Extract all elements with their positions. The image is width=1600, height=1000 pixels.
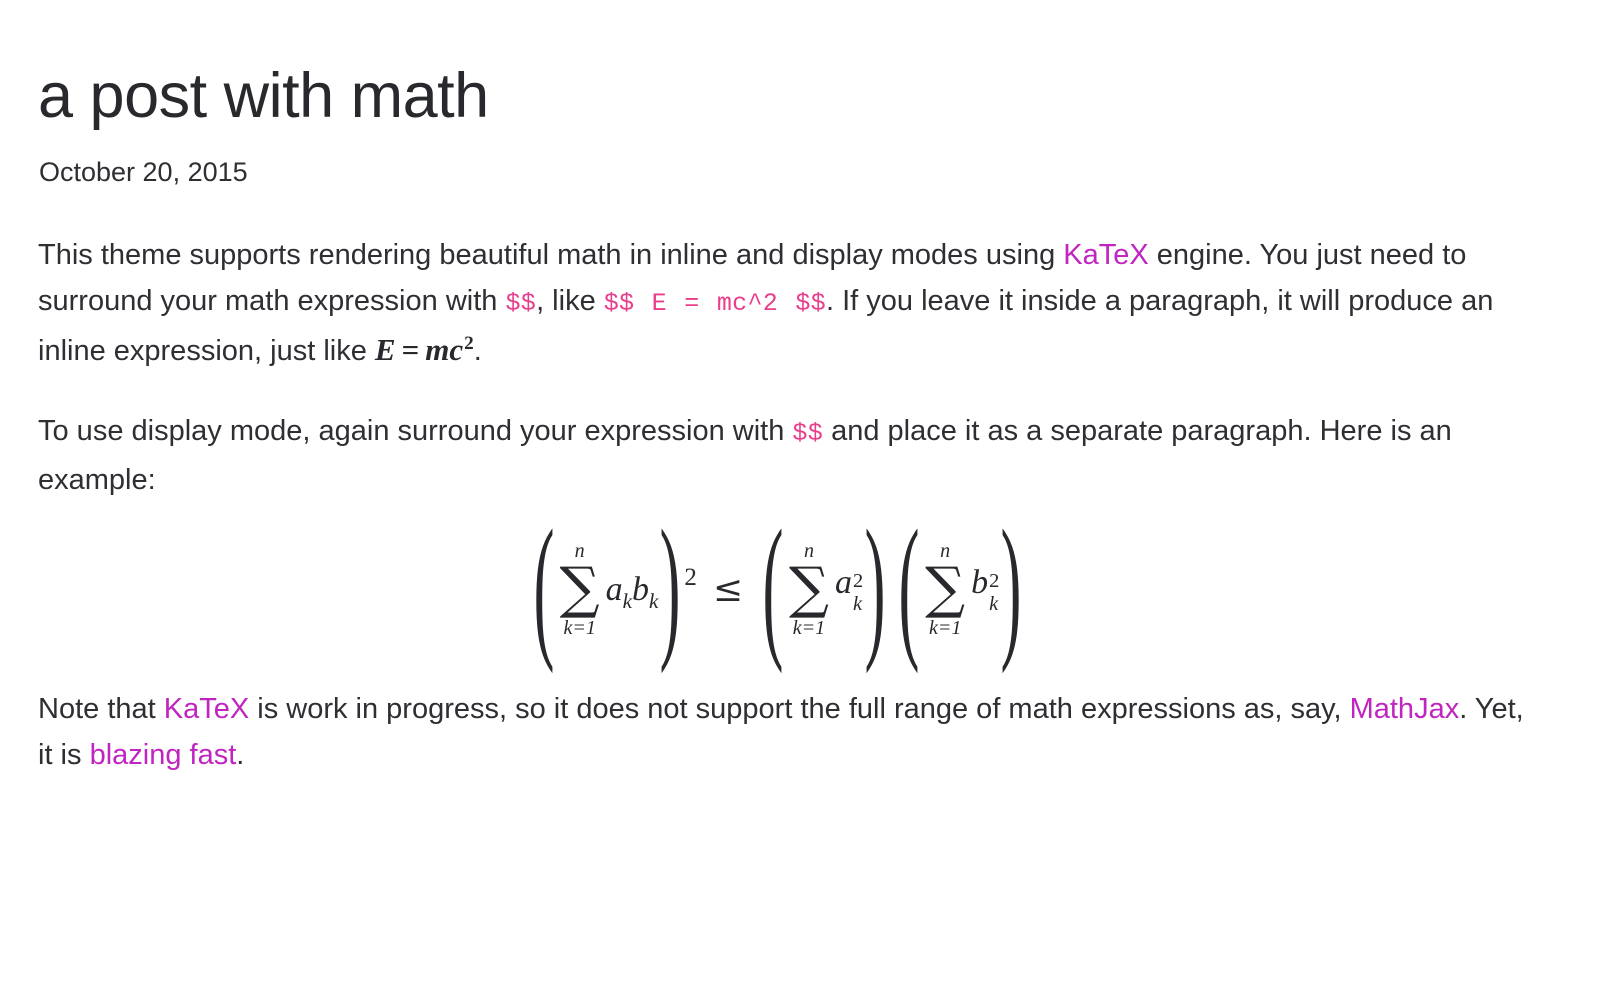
page-title: a post with math [38,62,1540,130]
left-paren-3: ( [898,526,921,654]
right-paren-1: ) [659,526,682,654]
summation-2: n ∑ k=1 [789,541,829,637]
term-bk-squared: b2k [967,560,999,619]
katex-link-2[interactable]: KaTeX [164,693,249,725]
term-b2-indices: 2k [988,571,999,613]
term-akbk: akbk [602,567,659,613]
inline-math-exponent: 2 [463,333,474,354]
term-b-sub: k [649,588,658,612]
display-math-cauchy-schwarz: ( n ∑ k=1 akbk ) 2 ≤ ( n ∑ [30,533,1525,651]
code-dollar-delimiters-2: $$ [792,419,823,448]
katex-link-1[interactable]: KaTeX [1063,239,1148,271]
term-a2-indices: 2k [852,571,863,613]
paragraph3-text-2: is work in progress, so it does not supp… [249,693,1349,725]
sigma-icon-3: ∑ [925,562,965,615]
term-ak-squared: a2k [831,560,863,619]
paragraph1-text-3: , like [536,285,604,317]
term-b2-sub: k [989,594,999,615]
term-a-sub: k [623,588,632,612]
paragraph1-text-5: . [474,335,482,367]
mathjax-link[interactable]: MathJax [1350,693,1460,725]
equation-root: ( n ∑ k=1 akbk ) 2 ≤ ( n ∑ [532,541,1024,637]
sum-lower-limit-1: k=1 [563,618,595,638]
code-dollar-delimiters-1: $$ [505,289,536,318]
sum-lower-limit-3: k=1 [929,618,961,638]
sigma-icon-1: ∑ [560,562,600,615]
inline-math-mc: mc [425,332,463,367]
post-page: a post with math October 20, 2015 This t… [0,0,1600,1000]
outer-exponent: 2 [684,555,697,601]
paragraph1-text-1: This theme supports rendering beautiful … [38,239,1063,271]
left-paren-2: ( [762,526,785,654]
inline-math-equals: = [396,332,426,367]
paragraph3-text-4: . [236,739,244,771]
inline-math-e: E [375,332,396,367]
paragraph2-text-1: To use display mode, again surround your… [38,415,792,447]
paragraph-note: Note that KaTeX is work in progress, so … [38,686,1533,778]
paragraph-intro: This theme supports rendering beautiful … [38,232,1533,374]
post-content: This theme supports rendering beautiful … [38,232,1533,777]
equation-group-2: ( n ∑ k=1 a2k ) [761,541,887,637]
left-paren-1: ( [532,526,555,654]
term-a-base: a [606,571,623,608]
blazing-fast-link[interactable]: blazing fast [90,739,237,771]
sum-lower-limit-2: k=1 [793,618,825,638]
term-b-base: b [632,571,649,608]
equation-group-3: ( n ∑ k=1 b2k ) [897,541,1023,637]
term-a2-base: a [835,564,852,601]
summation-1: n ∑ k=1 [560,541,600,637]
term-a2-sub: k [853,594,863,615]
equation-group-1: ( n ∑ k=1 akbk ) 2 [532,541,695,637]
sigma-icon-2: ∑ [789,562,829,615]
summation-3: n ∑ k=1 [925,541,965,637]
right-paren-3: ) [1000,526,1023,654]
post-date: October 20, 2015 [39,156,1540,188]
term-b2-base: b [971,564,988,601]
relation-leq: ≤ [695,567,761,613]
right-paren-2: ) [864,526,887,654]
paragraph-display-mode: To use display mode, again surround your… [38,408,1533,503]
inline-math-emc2: E=mc2 [375,327,474,373]
code-math-example: $$ E = mc^2 $$ [604,289,826,318]
term-a2-sup: 2 [853,571,863,592]
paragraph3-text-1: Note that [38,693,164,725]
term-b2-sup: 2 [989,571,999,592]
